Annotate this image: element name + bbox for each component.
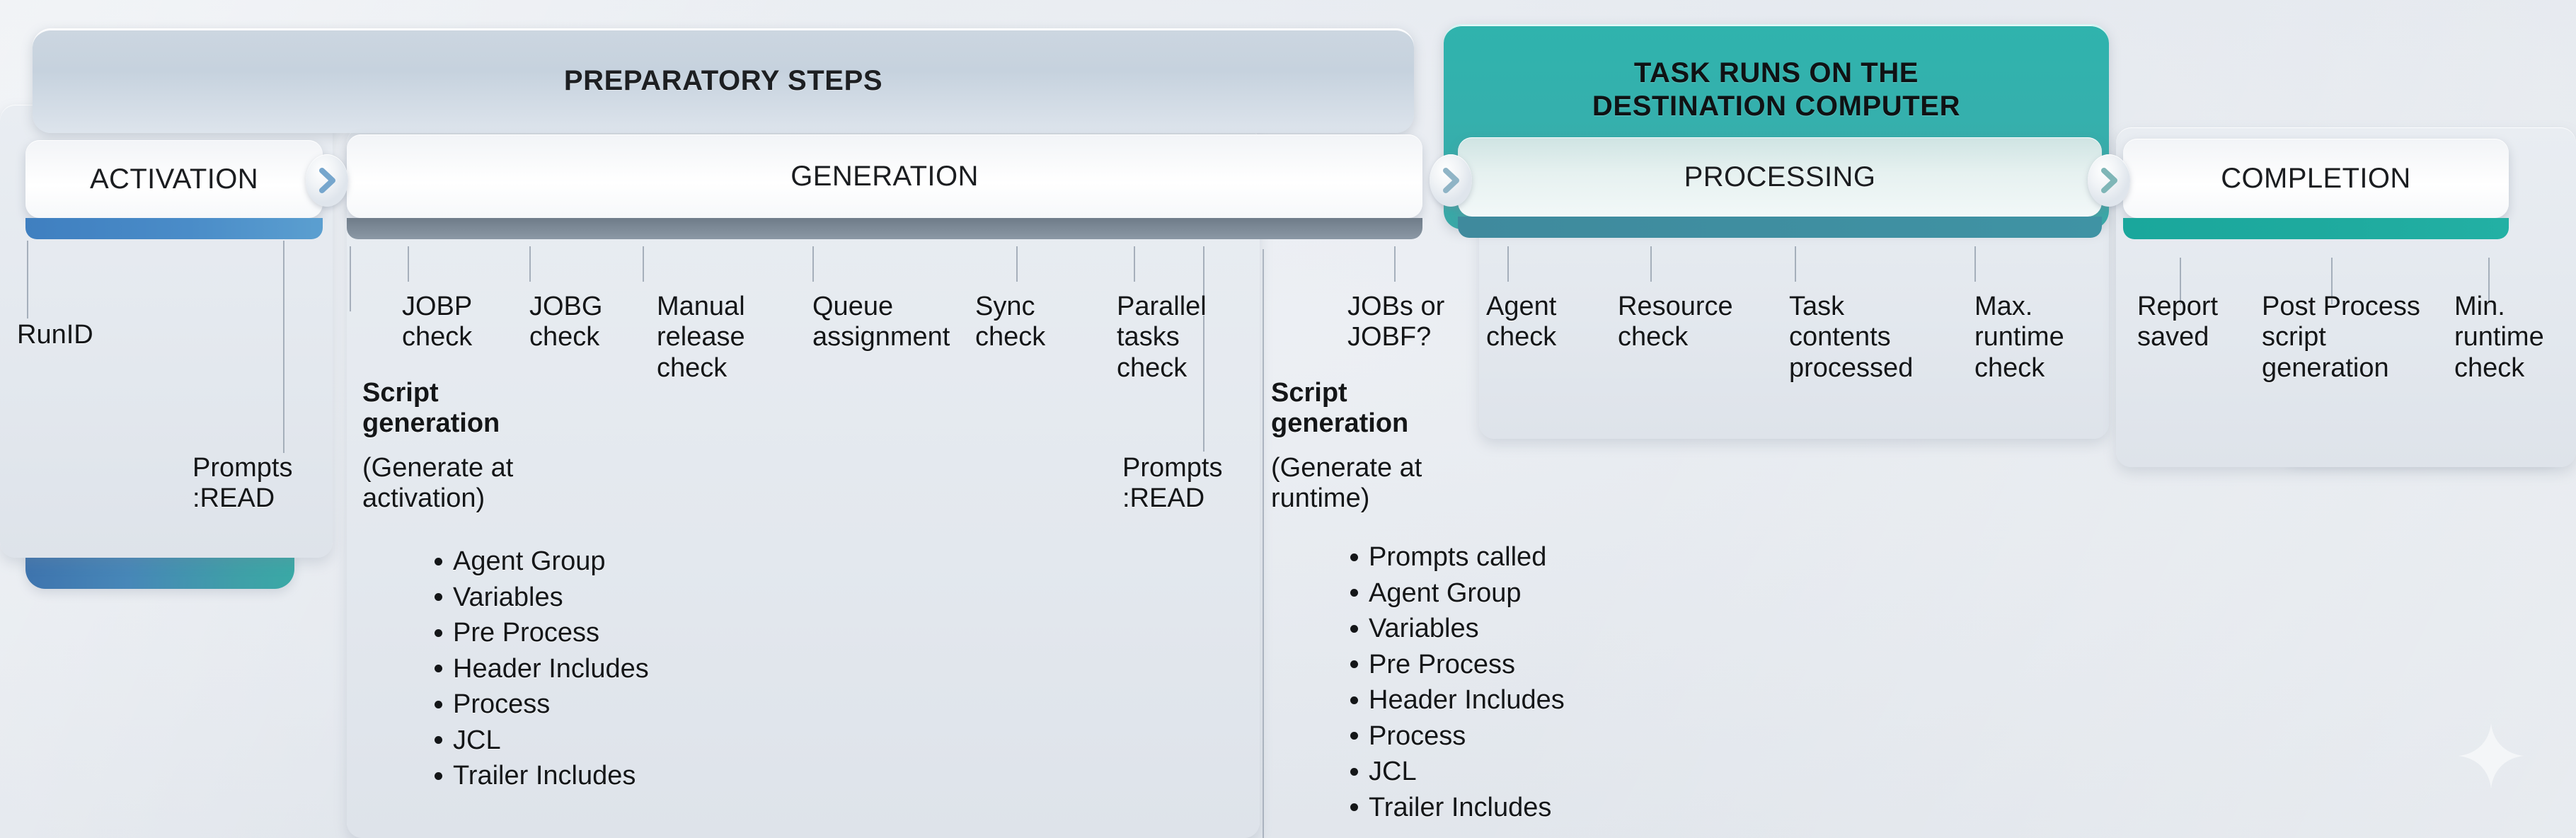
label-generation-prompts-read: Prompts :READ	[1122, 453, 1222, 515]
banner-preparatory-steps-label: PREPARATORY STEPS	[564, 64, 882, 98]
label-resource-check: Resource check	[1618, 292, 1733, 353]
leader-line-jobs-or-jobf	[1394, 246, 1396, 282]
list-item: Pre Process	[1369, 647, 1565, 683]
label-jobg-check: JOBG check	[529, 292, 602, 353]
label-manual-release-check: Manual release check	[657, 292, 745, 384]
list-item: Prompts called	[1369, 539, 1565, 575]
label-sync-check: Sync check	[975, 292, 1045, 353]
label-activation-prompts-read: Prompts :READ	[192, 453, 292, 515]
list-item: JCL	[453, 723, 649, 759]
tab-completion-underline	[2123, 218, 2509, 239]
connector-processing-to-completion[interactable]	[2088, 154, 2130, 207]
list-item: Agent Group	[1369, 575, 1565, 612]
list-item: Header Includes	[453, 651, 649, 687]
tab-processing-underline	[1458, 217, 2102, 238]
tab-generation-label: GENERATION	[790, 161, 979, 193]
leader-line-queue-assignment	[812, 246, 814, 282]
label-parallel-tasks-check: Parallel tasks check	[1117, 292, 1207, 384]
leader-line-jobp-check	[408, 246, 409, 282]
sparkle-icon	[2456, 721, 2526, 795]
list-item: Trailer Includes	[1369, 790, 1565, 826]
tab-completion[interactable]: COMPLETION	[2123, 139, 2509, 218]
leader-line-jobg-check	[529, 246, 531, 282]
label-max-runtime-check: Max. runtime check	[1974, 292, 2064, 384]
processing-script-generation-subheading: (Generate at runtime)	[1271, 453, 1422, 515]
generation-script-generation-heading: Script generation	[362, 378, 500, 440]
list-item: Process	[453, 687, 649, 723]
tab-processing[interactable]: PROCESSING	[1458, 137, 2102, 217]
divider-line-generation-right-a	[1263, 249, 1264, 838]
connector-activation-to-generation[interactable]	[306, 154, 348, 207]
leader-line-sync-check	[1016, 246, 1018, 282]
leader-line-parallel-tasks-check	[1134, 246, 1135, 282]
connector-generation-to-processing[interactable]	[1430, 154, 1472, 207]
tab-activation[interactable]: ACTIVATION	[25, 140, 323, 218]
tab-activation-label: ACTIVATION	[90, 163, 258, 195]
label-report-saved: Report saved	[2137, 292, 2218, 353]
list-item: JCL	[1369, 754, 1565, 790]
list-item: Process	[1369, 718, 1565, 754]
chevron-right-icon	[316, 166, 338, 195]
tab-processing-label: PROCESSING	[1684, 161, 1876, 193]
label-jobs-or-jobf: JOBs or JOBF?	[1347, 292, 1444, 353]
list-item: Agent Group	[453, 544, 649, 580]
generation-script-generation-list: Agent Group Variables Pre Process Header…	[429, 544, 649, 794]
processing-script-generation-heading: Script generation	[1271, 378, 1408, 440]
label-jobp-check: JOBP check	[402, 292, 472, 353]
tab-generation-underline	[347, 218, 1422, 239]
label-min-runtime-check: Min. runtime check	[2454, 292, 2544, 384]
leader-line-max-runtime-check	[1974, 246, 1976, 282]
leader-line-task-contents-processed	[1795, 246, 1796, 282]
banner-task-runs-label: TASK RUNS ON THE DESTINATION COMPUTER	[1592, 57, 1960, 123]
tab-generation[interactable]: GENERATION	[347, 134, 1422, 218]
tab-completion-label: COMPLETION	[2221, 163, 2410, 195]
banner-preparatory-steps: PREPARATORY STEPS	[33, 28, 1414, 133]
leader-line-generation-left-edge	[350, 246, 351, 311]
generation-script-generation-subheading: (Generate at activation)	[362, 453, 513, 515]
label-runid: RunID	[17, 320, 93, 350]
list-item: Variables	[453, 580, 649, 616]
label-agent-check: Agent check	[1486, 292, 1556, 353]
label-task-contents-processed: Task contents processed	[1789, 292, 1913, 384]
leader-line-activation-prompts	[283, 241, 284, 453]
label-post-process-script-generation: Post Process script generation	[2262, 292, 2420, 384]
list-item: Header Includes	[1369, 682, 1565, 718]
list-item: Pre Process	[453, 615, 649, 651]
tab-activation-underline	[25, 218, 323, 239]
leader-line-agent-check	[1507, 246, 1509, 282]
processing-script-generation-list: Prompts called Agent Group Variables Pre…	[1345, 539, 1565, 825]
chevron-right-icon	[2098, 166, 2120, 195]
leader-line-runid	[27, 241, 28, 318]
leader-line-manual-release-check	[643, 246, 644, 282]
list-item: Variables	[1369, 611, 1565, 647]
leader-line-resource-check	[1650, 246, 1652, 282]
label-queue-assignment: Queue assignment	[812, 292, 950, 353]
chevron-right-icon	[1440, 166, 1461, 195]
list-item: Trailer Includes	[453, 758, 649, 794]
